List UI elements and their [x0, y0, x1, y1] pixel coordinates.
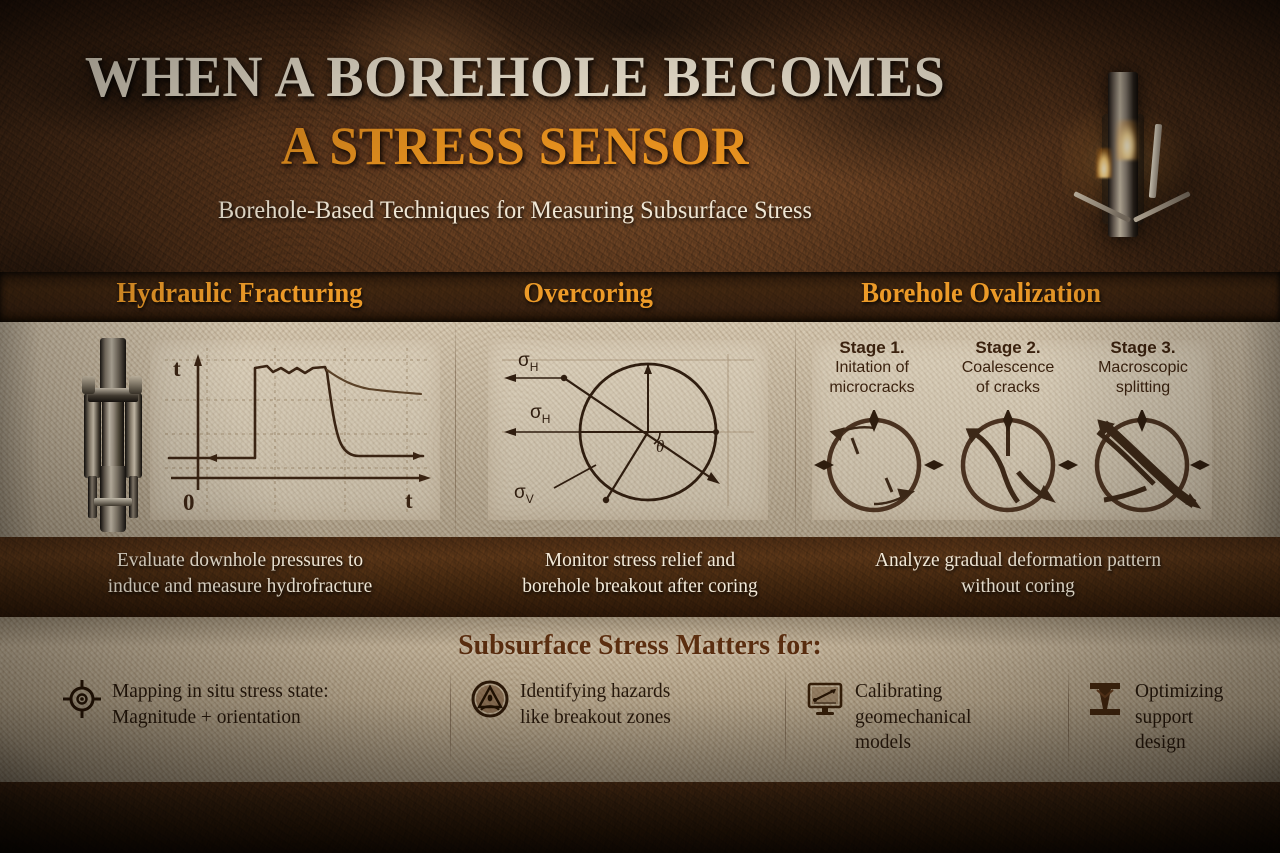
page-title-line1: WHEN A BOREHOLE BECOMES: [21, 46, 1010, 109]
infographic-root: WHEN A BOREHOLE BECOMES A STRESS SENSOR …: [0, 0, 1280, 853]
monitor-chart-icon: [805, 679, 845, 719]
benefit-item-mapping: Mapping in situ stress state: Magnitude …: [62, 679, 442, 730]
benefits-divider-3: [1068, 673, 1069, 761]
method-captions-band: Evaluate downhole pressures to induce an…: [0, 537, 1280, 617]
title-block: WHEN A BOREHOLE BECOMES A STRESS SENSOR …: [0, 46, 1030, 225]
tool-valve-left: [82, 376, 95, 394]
benefit-lead-mapping: Mapping in situ stress state:: [112, 679, 329, 705]
caption-borehole-ovalization: Analyze gradual deformation pattern with…: [824, 547, 1212, 600]
benefit-lead-hazards: Identifying hazards: [520, 679, 671, 705]
benefit-detail-mapping: Magnitude + orientation: [112, 705, 329, 731]
tool-valve-right: [129, 376, 142, 394]
benefits-divider-2: [785, 673, 786, 761]
header-section: WHEN A BOREHOLE BECOMES A STRESS SENSOR …: [0, 0, 1280, 272]
caption-hf-line1: Evaluate downhole pressures to: [65, 547, 414, 573]
caption-hydraulic-fracturing: Evaluate downhole pressures to induce an…: [65, 547, 414, 600]
sigma-v-label: σV: [514, 482, 534, 506]
tool-ring: [94, 498, 132, 506]
caption-oc-line2: borehole breakout after coring: [480, 573, 800, 599]
chart-origin-label: 0: [183, 490, 195, 515]
lantern-flame-right: [1116, 120, 1138, 160]
stage-1-label: Stage 1. Initation of microcracks: [816, 338, 928, 397]
downhole-packer-tool-icon: [72, 338, 152, 533]
hydrofracture-pressure-chart: t t 0: [155, 340, 440, 520]
benefit-item-support: Optimizing support design: [1085, 679, 1265, 756]
benefit-item-calibrating: Calibrating geomechanical models: [805, 679, 1055, 756]
benefits-title: Subsurface Stress Matters for:: [26, 629, 1255, 662]
method-title-hydraulic-fracturing: Hydraulic Fracturing: [116, 278, 362, 310]
tool-head: [100, 338, 126, 390]
stage-2-label: Stage 2. Coalescence of cracks: [952, 338, 1064, 397]
caption-oc-line1: Monitor stress relief and: [480, 547, 800, 573]
method-titles-bar: Hydraulic Fracturing Overcoring Borehole…: [0, 272, 1280, 322]
chart-y-axis-label: t: [173, 356, 181, 381]
method-title-overcoring: Overcoring: [523, 278, 653, 310]
panel-divider-2: [795, 322, 796, 537]
ovalization-stage-labels: Stage 1. Initation of microcracks Stage …: [812, 338, 1212, 388]
stage-3-label: Stage 3. Macroscopic splitting: [1084, 338, 1202, 397]
caption-hf-line2: induce and measure hydrofracture: [65, 573, 414, 599]
benefit-detail-hazards: like breakout zones: [520, 705, 671, 731]
benefit-text-mapping: Mapping in situ stress state: Magnitude …: [112, 679, 329, 730]
panel-divider-1: [455, 322, 456, 537]
sigma-h-upper-label: σH: [518, 350, 538, 374]
page-subtitle: Borehole-Based Techniques for Measuring …: [15, 197, 1014, 225]
i-beam-support-icon: [1085, 679, 1125, 719]
tool-foot-left: [88, 476, 97, 518]
benefit-detail-calibrating: geomechanical: [855, 705, 971, 731]
hazard-warning-icon: [470, 679, 510, 719]
method-title-borehole-ovalization: Borehole Ovalization: [861, 278, 1101, 310]
caption-overcoring: Monitor stress relief and borehole break…: [480, 547, 800, 600]
benefit-text-hazards: Identifying hazards like breakout zones: [520, 679, 671, 730]
benefit-detail2-support: design: [1135, 730, 1223, 756]
packer-element-left: [84, 393, 101, 478]
overcoring-stress-diagram: θ σH σH σV: [488, 340, 768, 520]
benefit-text-support: Optimizing support design: [1135, 679, 1223, 756]
chart-x-axis-label: t: [405, 488, 413, 513]
lantern-flame-left: [1096, 148, 1112, 178]
sigma-h-lower-label: σH: [530, 402, 550, 426]
benefits-band: Subsurface Stress Matters for: Mapping i…: [0, 617, 1280, 782]
benefit-detail-support: support: [1135, 705, 1223, 731]
benefit-text-calibrating: Calibrating geomechanical models: [855, 679, 971, 756]
method-diagrams-band: t t 0: [0, 322, 1280, 537]
benefit-item-hazards: Identifying hazards like breakout zones: [470, 679, 770, 730]
caption-bo-line2: without coring: [824, 573, 1212, 599]
ovalization-stages-icon: [812, 410, 1212, 520]
packer-element-right: [125, 393, 142, 478]
footer-rock-band: [0, 782, 1280, 853]
caption-bo-line1: Analyze gradual deformation pattern: [824, 547, 1212, 573]
benefit-detail2-calibrating: models: [855, 730, 971, 756]
borehole-probe-lantern-icon: [1072, 72, 1192, 272]
page-title-line2: A STRESS SENSOR: [21, 115, 1010, 177]
benefits-divider-1: [450, 673, 451, 761]
footer-noise: [0, 782, 1280, 853]
overcoring-angle-label: θ: [656, 437, 664, 456]
benefit-lead-support: Optimizing: [1135, 679, 1223, 705]
benefit-lead-calibrating: Calibrating: [855, 679, 971, 705]
crosshair-target-icon: [62, 679, 102, 719]
tool-foot-right: [129, 476, 138, 518]
